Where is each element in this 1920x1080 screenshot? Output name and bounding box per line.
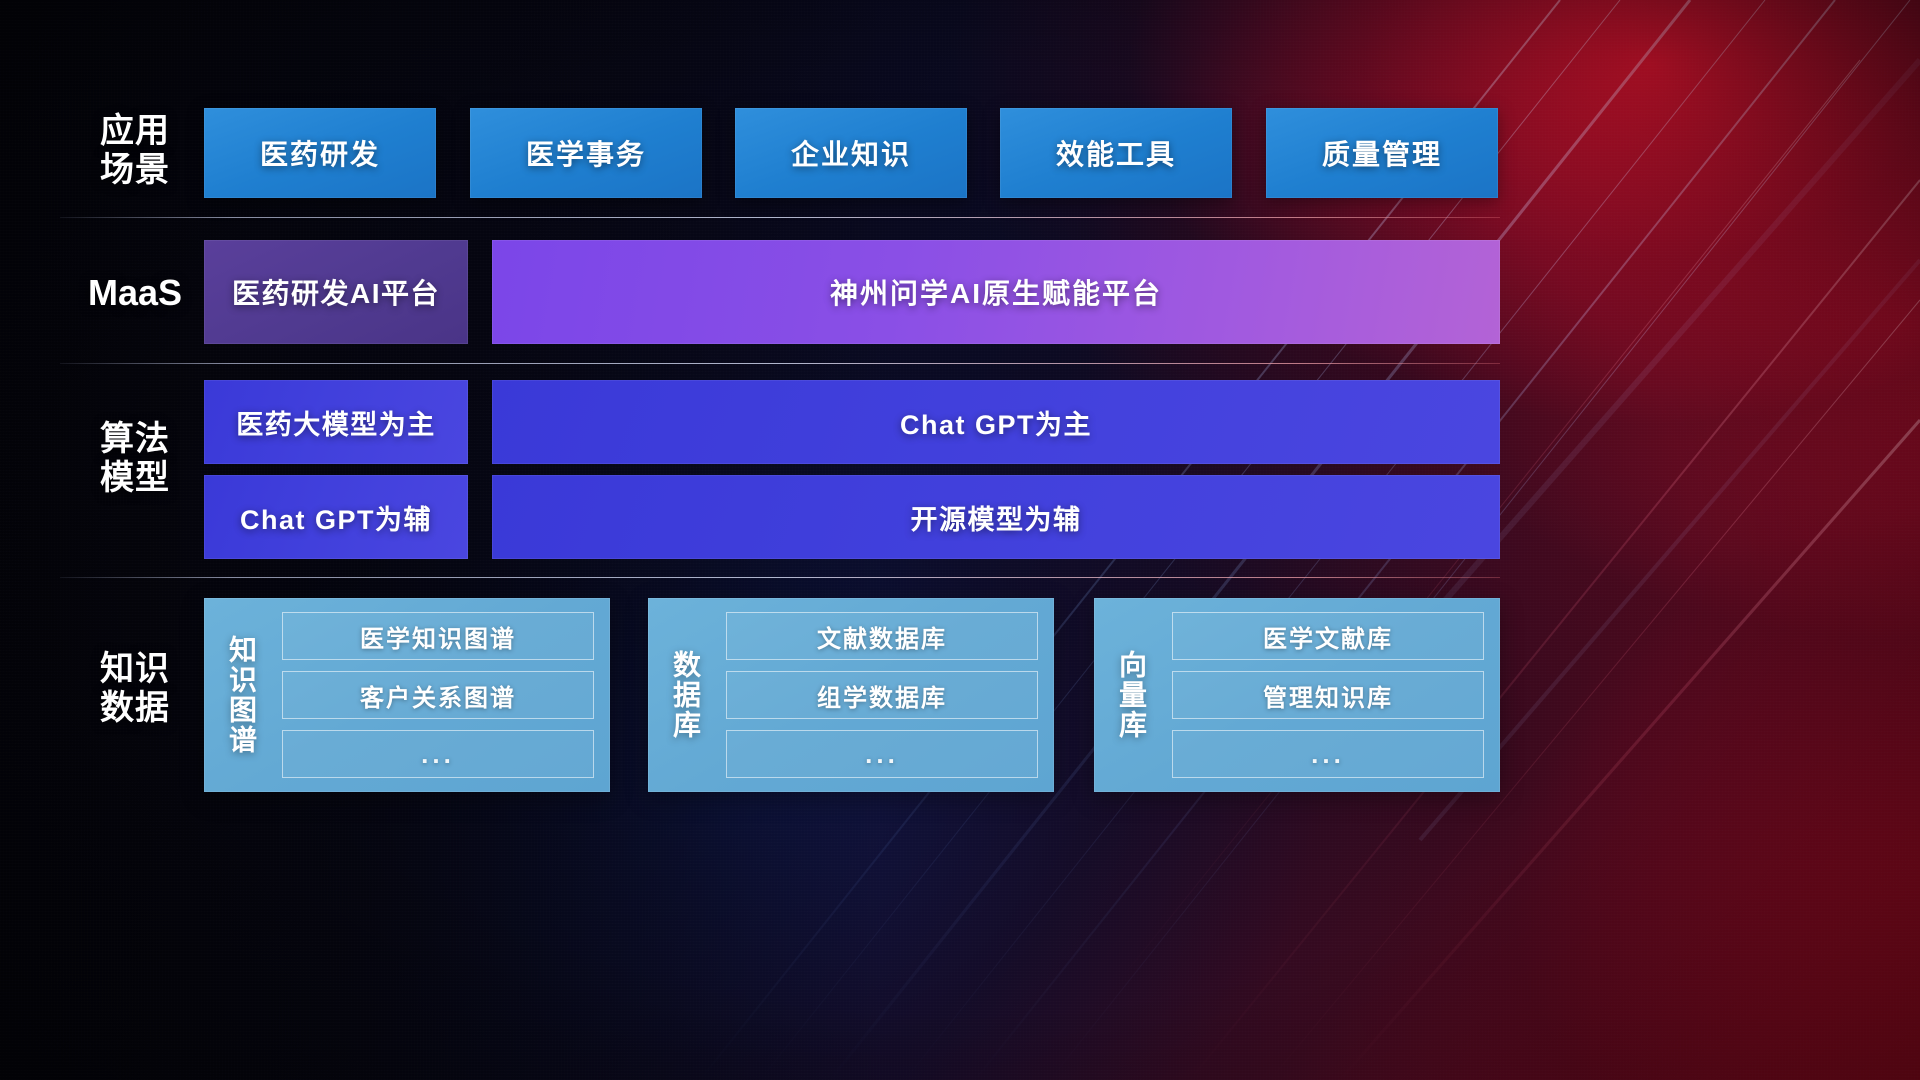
row-label-maas: MaaS — [62, 272, 208, 314]
algorithm-box-medical-llm-primary[interactable]: 医药大模型为主 — [204, 380, 468, 464]
algorithm-box-chatgpt-primary[interactable]: Chat GPT为主 — [492, 380, 1500, 464]
knowledge-item-more[interactable]: ... — [1172, 730, 1484, 778]
divider-2 — [60, 363, 1500, 364]
knowledge-item-more[interactable]: ... — [282, 730, 594, 778]
slide-canvas: 应用 场景 医药研发 医学事务 企业知识 效能工具 质量管理 MaaS 医药研发… — [0, 0, 1920, 1080]
knowledge-item[interactable]: 医学文献库 — [1172, 612, 1484, 660]
knowledge-item-more[interactable]: ... — [726, 730, 1038, 778]
knowledge-panel-knowledge-graph[interactable]: 知识图谱 医学知识图谱 客户关系图谱 ... — [204, 598, 610, 792]
row-label-knowledge-data: 知识 数据 — [70, 650, 200, 729]
divider-3 — [60, 577, 1500, 578]
app-scenario-box-4[interactable]: 效能工具 — [1000, 108, 1232, 198]
row-label-algorithm-models: 算法 模型 — [70, 420, 200, 499]
maas-box-medical-ai-platform[interactable]: 医药研发AI平台 — [204, 240, 468, 344]
knowledge-panel-title: 数据库 — [648, 598, 722, 792]
app-scenario-box-1[interactable]: 医药研发 — [204, 108, 436, 198]
divider-1 — [60, 217, 1500, 218]
knowledge-panel-title: 知识图谱 — [204, 598, 278, 792]
row-label-application-scenarios: 应用 场景 — [70, 112, 200, 191]
knowledge-item[interactable]: 客户关系图谱 — [282, 671, 594, 719]
maas-box-shenzhou-wenxue-platform[interactable]: 神州问学AI原生赋能平台 — [492, 240, 1500, 344]
algorithm-box-opensource-secondary[interactable]: 开源模型为辅 — [492, 475, 1500, 559]
knowledge-panel-title: 向量库 — [1094, 598, 1168, 792]
app-scenario-box-5[interactable]: 质量管理 — [1266, 108, 1498, 198]
knowledge-item[interactable]: 组学数据库 — [726, 671, 1038, 719]
knowledge-item[interactable]: 医学知识图谱 — [282, 612, 594, 660]
app-scenario-box-3[interactable]: 企业知识 — [735, 108, 967, 198]
knowledge-panel-database[interactable]: 数据库 文献数据库 组学数据库 ... — [648, 598, 1054, 792]
knowledge-item[interactable]: 管理知识库 — [1172, 671, 1484, 719]
knowledge-item[interactable]: 文献数据库 — [726, 612, 1038, 660]
knowledge-panel-vector-store[interactable]: 向量库 医学文献库 管理知识库 ... — [1094, 598, 1500, 792]
algorithm-box-chatgpt-secondary[interactable]: Chat GPT为辅 — [204, 475, 468, 559]
app-scenario-box-2[interactable]: 医学事务 — [470, 108, 702, 198]
